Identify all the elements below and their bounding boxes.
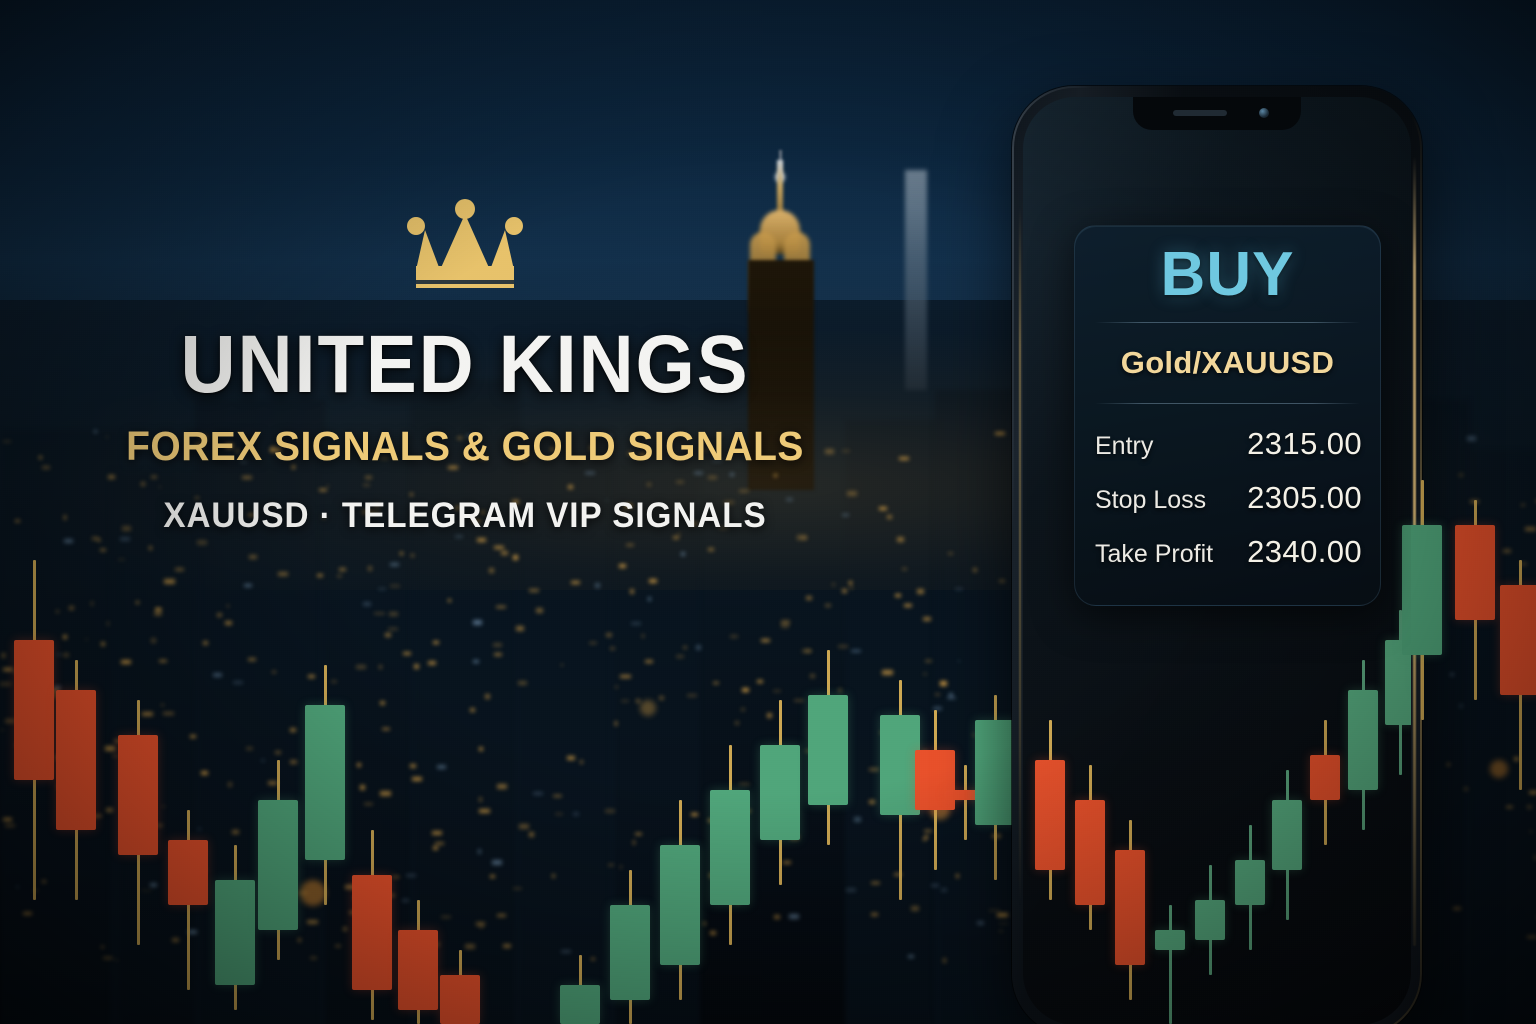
candle-body	[1455, 525, 1495, 620]
brand-subtitle: FOREX SIGNALS & GOLD SIGNALS	[23, 423, 907, 470]
signal-row: Stop Loss2305.00	[1091, 471, 1364, 525]
page-title: UNITED KINGS	[33, 326, 898, 405]
signal-row: Entry2315.00	[1091, 417, 1364, 471]
crown-icon	[0, 196, 930, 314]
phone-notch	[1133, 97, 1301, 130]
signal-row-label: Entry	[1095, 432, 1153, 461]
card-divider-top	[1095, 322, 1360, 323]
signal-row-value: 2315.00	[1247, 426, 1362, 462]
candlestick	[1455, 0, 1495, 1024]
brand-tagline: XAUUSD · TELEGRAM VIP SIGNALS	[23, 496, 907, 536]
candlestick	[1402, 0, 1442, 1024]
brand-block: UNITED KINGS FOREX SIGNALS & GOLD SIGNAL…	[0, 196, 930, 536]
promo-banner: BUY Gold/XAUUSD Entry2315.00Stop Loss230…	[0, 0, 1536, 1024]
signal-row-value: 2305.00	[1247, 480, 1362, 516]
trade-signal-card[interactable]: BUY Gold/XAUUSD Entry2315.00Stop Loss230…	[1074, 225, 1381, 606]
candle-body	[1402, 525, 1442, 655]
signal-row-label: Take Profit	[1095, 540, 1213, 569]
signal-row: Take Profit2340.00	[1091, 525, 1364, 579]
front-camera-icon	[1259, 108, 1269, 118]
candle-body	[1500, 585, 1536, 695]
signal-pair: Gold/XAUUSD	[1091, 336, 1364, 390]
card-divider-bottom	[1095, 403, 1360, 404]
signal-row-value: 2340.00	[1247, 534, 1362, 570]
signal-values-list: Entry2315.00Stop Loss2305.00Take Profit2…	[1091, 417, 1364, 579]
signal-direction: BUY	[1091, 242, 1364, 309]
candlestick	[1500, 0, 1536, 1024]
speaker-grille-icon	[1173, 110, 1227, 116]
signal-row-label: Stop Loss	[1095, 486, 1206, 515]
